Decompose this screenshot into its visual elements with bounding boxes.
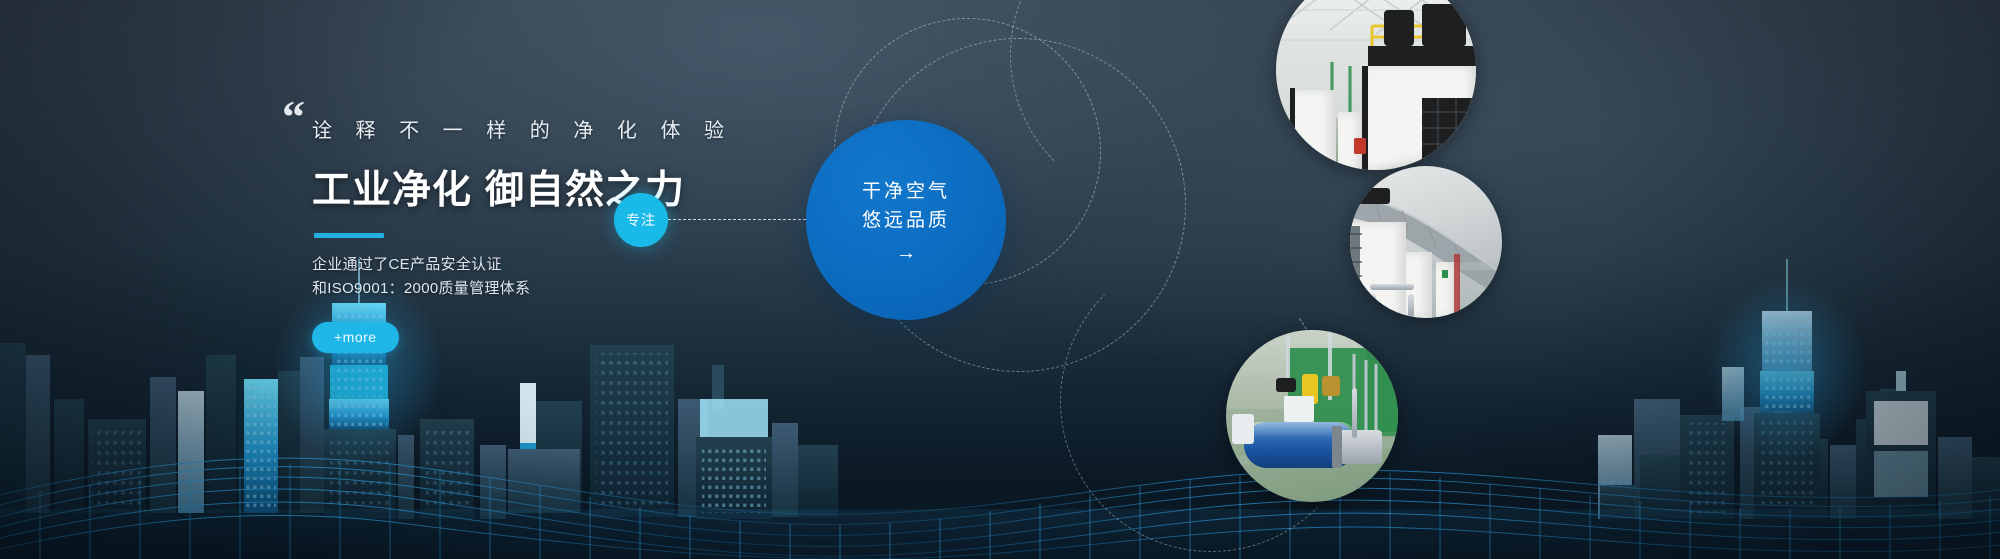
arrow-right-icon: → bbox=[896, 243, 916, 263]
accent-divider bbox=[314, 233, 384, 238]
cityscape-illustration bbox=[0, 259, 2000, 559]
quote-mark-icon: “ bbox=[282, 94, 305, 140]
main-feature-circle[interactable]: 干净空气 悠远品质 → bbox=[806, 120, 1006, 320]
photo-industrial-plant-interior[interactable] bbox=[1276, 0, 1476, 170]
feature-circle-line-1: 干净空气 bbox=[862, 177, 950, 206]
hero-subtitle: 诠 释 不 一 样 的 净 化 体 验 bbox=[312, 114, 932, 143]
focus-badge-label: 专注 bbox=[626, 210, 656, 230]
focus-badge[interactable]: 专注 bbox=[614, 193, 668, 247]
photo-blue-pipe-equipment[interactable] bbox=[1226, 330, 1398, 502]
headline-part-1: 工业净化 bbox=[312, 169, 472, 212]
dashed-connector-line bbox=[668, 219, 806, 220]
photo-factory-ducting-line[interactable] bbox=[1350, 166, 1502, 318]
feature-circle-line-2: 悠远品质 bbox=[862, 206, 950, 235]
hero-banner: “ 诠 释 不 一 样 的 净 化 体 验 工业净化御自然之力 企业通过了CE产… bbox=[0, 0, 2000, 559]
photo-link-arc-top bbox=[1010, 0, 1312, 206]
more-button[interactable]: +more bbox=[312, 322, 399, 353]
